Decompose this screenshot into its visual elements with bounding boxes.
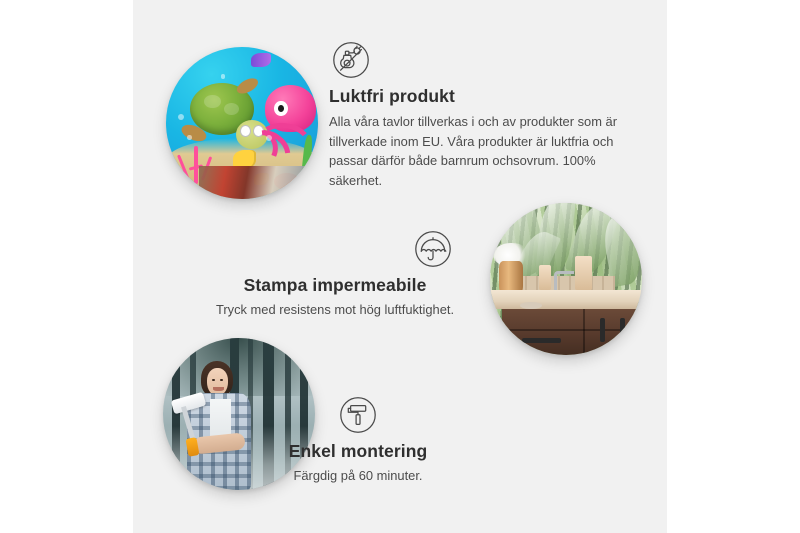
woman-smile bbox=[213, 387, 224, 392]
faucet bbox=[554, 271, 574, 289]
feature-heading: Enkel montering bbox=[193, 441, 523, 462]
drawer-handle bbox=[522, 338, 561, 343]
feature-text-luktfri: Luktfri produkt Alla våra tavlor tillver… bbox=[329, 38, 629, 190]
feature-heading: Stampa impermeabile bbox=[185, 275, 485, 296]
octopus-eye bbox=[274, 101, 287, 116]
wood-cabinet bbox=[502, 309, 642, 355]
bottle bbox=[575, 256, 592, 289]
bottle bbox=[539, 265, 551, 289]
bathroom-scene bbox=[490, 203, 642, 355]
purple-fish bbox=[251, 53, 271, 67]
door-handle bbox=[600, 318, 605, 343]
infographic-panel: Luktfri produkt Alla våra tavlor tillver… bbox=[133, 0, 667, 533]
feature-body: Alla våra tavlor tillverkas i och av pro… bbox=[329, 112, 629, 190]
underwater-scene bbox=[166, 47, 318, 199]
no-fragrance-icon bbox=[329, 38, 373, 82]
bubble bbox=[221, 74, 226, 79]
feature-heading: Luktfri produkt bbox=[329, 86, 629, 107]
woman-face bbox=[207, 368, 228, 395]
room-photo-strip bbox=[199, 166, 318, 199]
paint-roller-icon bbox=[336, 393, 380, 437]
bubble bbox=[187, 135, 192, 140]
countertop bbox=[490, 290, 642, 310]
tree-canopy bbox=[163, 338, 315, 396]
bubble bbox=[178, 114, 184, 120]
feature-image-bathroom-botanical-wallpaper-photo bbox=[490, 203, 642, 355]
door-handle bbox=[620, 318, 625, 343]
feature-image-underwater-cartoon-mural-photo bbox=[166, 47, 318, 199]
umbrella-icon bbox=[411, 227, 455, 271]
feature-body: Färgdig på 60 minuter. bbox=[193, 467, 523, 486]
feature-text-montering: Enkel montering Färgdig på 60 minuter. bbox=[193, 393, 523, 486]
product-feature-infographic: Luktfri produkt Alla våra tavlor tillver… bbox=[0, 0, 800, 533]
feature-text-impermeabile: Stampa impermeabile Tryck med resistens … bbox=[185, 227, 485, 320]
feature-body: Tryck med resistens mot hög luftfuktighe… bbox=[185, 301, 485, 320]
